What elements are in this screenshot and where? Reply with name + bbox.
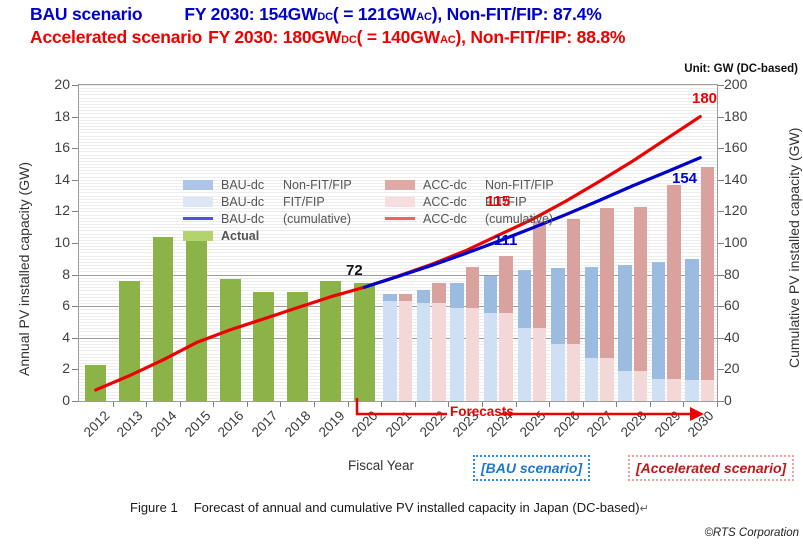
y-tick-mark-right [718,211,724,212]
y-tick-label-left: 0 [34,392,70,408]
value-annotation-72: 72 [346,262,363,279]
y-tick-label-right: 100 [724,234,764,250]
y-tick-label-left: 16 [34,139,70,155]
y-tick-label-right: 40 [724,329,764,345]
y-tick-label-left: 10 [34,234,70,250]
legend-label: BAU-dc [221,178,283,192]
x-tick-label: 2018 [275,408,314,447]
x-tick-mark [180,402,181,407]
header-block: BAU scenario FY 2030: 154GWDC ( = 121GWA… [0,4,803,48]
y-tick-mark-right [718,117,724,118]
y-axis-title-right: Cumulative PV installed capacity (GW) [786,128,802,368]
legend-label: ACC-dc [423,212,485,226]
legend-row: BAU-dc FIT/FIP ACC-dc FIT/FIP [183,194,577,209]
x-tick-mark [247,402,248,407]
acc-summary-c: ), Non-FIT/FIP: 88.8% [455,27,625,48]
x-tick-mark [717,402,718,407]
legend-row: BAU-dc Non-FIT/FIP ACC-dc Non-FIT/FIP [183,177,577,192]
x-tick-label: 2013 [107,408,146,447]
y-tick-label-left: 20 [34,76,70,92]
chart-page: BAU scenario FY 2030: 154GWDC ( = 121GWA… [0,0,803,551]
legend-swatch-acc-nonfit [385,180,415,190]
acc-sub-ac: AC [440,34,456,46]
bau-sub-ac: AC [416,11,432,23]
y-tick-mark-right [718,275,724,276]
x-tick-label: 2015 [174,408,213,447]
y-tick-mark-right [718,243,724,244]
y-tick-mark-left [72,117,78,118]
y-tick-mark-left [72,180,78,181]
x-tick-mark [348,402,349,407]
legend-swatch-bau-nonfit [183,180,213,190]
x-tick-label: 2014 [141,408,180,447]
bau-summary-c: ), Non-FIT/FIP: 87.4% [432,4,602,25]
y-tick-label-right: 200 [724,76,764,92]
value-annotation-115: 115 [486,193,510,210]
y-tick-label-right: 80 [724,266,764,282]
figure-caption-text: Forecast of annual and cumulative PV ins… [194,500,640,515]
y-tick-label-right: 0 [724,392,764,408]
x-tick-mark [314,402,315,407]
x-axis-title: Fiscal Year [348,458,414,473]
y-tick-mark-right [718,148,724,149]
legend-label: BAU-dc [221,212,283,226]
plot-area: BAU-dc Non-FIT/FIP ACC-dc Non-FIT/FIP BA… [78,84,718,402]
x-tick-label: 2019 [309,408,348,447]
y-tick-mark-left [72,243,78,244]
y-tick-mark-right [718,180,724,181]
y-tick-mark-left [72,401,78,402]
value-annotation-154: 154 [672,170,697,187]
x-tick-label: 2016 [208,408,247,447]
legend-col2: ACC-dc Non-FIT/FIP [385,178,577,192]
y-tick-mark-left [72,369,78,370]
legend-desc: (cumulative) [485,212,577,226]
y-tick-mark-left [72,211,78,212]
y-tick-label-left: 8 [34,266,70,282]
legend-swatch-acc-fit [385,197,415,207]
acc-summary-a: FY 2030: 180GW [208,27,341,48]
paragraph-mark-icon: ↵ [640,503,649,515]
y-tick-label-right: 180 [724,108,764,124]
legend-col2: ACC-dc FIT/FIP [385,195,577,209]
scenario-badge-bau: [BAU scenario] [473,455,590,481]
legend-desc: FIT/FIP [283,195,375,209]
figure-number: Figure 1 [130,500,178,515]
x-tick-mark [113,402,114,407]
x-tick-mark [213,402,214,407]
legend-row: BAU-dc (cumulative) ACC-dc (cumulative) [183,211,577,226]
y-tick-mark-left [72,275,78,276]
legend-swatch-actual [183,231,213,241]
line-acc-cumulative [96,117,700,390]
acc-summary-b: ( = 140GW [357,27,440,48]
x-tick-mark [146,402,147,407]
y-tick-mark-right [718,85,724,86]
legend-desc: Non-FIT/FIP [283,178,375,192]
legend-desc: Non-FIT/FIP [485,178,577,192]
legend-label: ACC-dc [423,178,485,192]
bau-summary-a: FY 2030: 154GW [184,4,317,25]
x-tick-label: 2012 [73,408,112,447]
value-annotation-111: 111 [494,232,517,249]
legend-col2: ACC-dc (cumulative) [385,212,577,226]
legend-label: Actual [221,229,283,243]
legend-row: Actual [183,228,577,243]
bau-sub-dc: DC [317,11,333,23]
acc-scenario-label: Accelerated scenario [30,27,202,48]
y-tick-label-left: 12 [34,202,70,218]
y-tick-label-right: 160 [724,139,764,155]
value-annotation-180: 180 [692,90,717,107]
bau-scenario-label: BAU scenario [30,4,142,25]
y-tick-label-left: 2 [34,360,70,376]
figure-caption: Figure 1Forecast of annual and cumulativ… [130,500,649,515]
y-tick-mark-right [718,401,724,402]
y-tick-mark-right [718,306,724,307]
y-tick-label-right: 20 [724,360,764,376]
header-line-acc: Accelerated scenario FY 2030: 180GWDC ( … [30,27,803,48]
legend: BAU-dc Non-FIT/FIP ACC-dc Non-FIT/FIP BA… [183,177,577,245]
legend-desc: (cumulative) [283,212,375,226]
y-tick-label-left: 6 [34,297,70,313]
y-tick-label-right: 120 [724,202,764,218]
legend-swatch-bau-fit [183,197,213,207]
copyright-notice: ©RTS Corporation [704,527,799,539]
y-tick-label-left: 18 [34,108,70,124]
legend-line-bau-cum [183,217,213,220]
acc-sub-dc: DC [341,34,357,46]
header-line-bau: BAU scenario FY 2030: 154GWDC ( = 121GWA… [30,4,803,25]
y-tick-mark-left [72,148,78,149]
y-tick-mark-right [718,338,724,339]
y-tick-label-left: 14 [34,171,70,187]
y-tick-label-left: 4 [34,329,70,345]
x-tick-mark [280,402,281,407]
legend-line-acc-cum [385,217,415,220]
forecast-label: Forecasts [450,404,514,419]
legend-label: ACC-dc [423,195,485,209]
legend-label: BAU-dc [221,195,283,209]
y-tick-mark-right [718,369,724,370]
x-tick-label: 2017 [241,408,280,447]
y-tick-mark-left [72,338,78,339]
y-axis-title-left: Annual PV installed capacity (GW) [16,162,32,376]
y-tick-label-right: 140 [724,171,764,187]
unit-note: Unit: GW (DC-based) [684,63,798,75]
scenario-badge-acc: [Accelerated scenario] [628,455,794,481]
y-tick-mark-left [72,306,78,307]
y-tick-label-right: 60 [724,297,764,313]
bau-summary-b: ( = 121GW [333,4,416,25]
forecast-bracket [352,396,712,422]
y-tick-mark-left [72,85,78,86]
